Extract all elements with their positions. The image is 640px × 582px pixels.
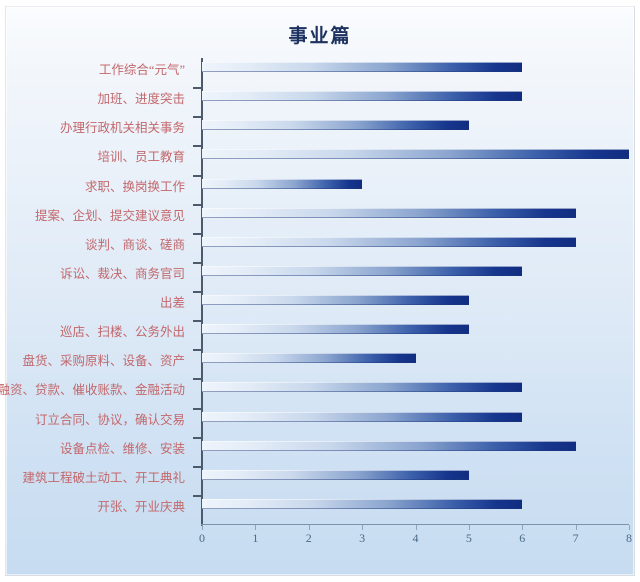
bar	[202, 412, 522, 422]
plot-area: 012345678 工作综合“元气”加班、进度突击办理行政机关相关事务培训、员工…	[196, 53, 633, 533]
bar-row	[202, 116, 629, 135]
bar	[202, 470, 469, 480]
y-axis-tick	[193, 466, 201, 468]
bar-row	[202, 87, 629, 106]
x-axis-tick	[469, 525, 470, 530]
bar-row	[202, 349, 629, 368]
bar-row	[202, 175, 629, 194]
y-axis-tick	[193, 262, 201, 264]
bar	[202, 382, 522, 392]
x-axis-tick	[362, 525, 363, 530]
category-label: 订立合同、协议，确认交易	[0, 409, 185, 428]
category-label: 融资、贷款、催收账款、金融活动	[0, 379, 185, 398]
x-axis-tick	[255, 525, 256, 530]
x-axis-tick-label: 2	[294, 531, 324, 546]
bar	[202, 120, 469, 130]
y-axis-tick	[193, 408, 201, 410]
category-label: 开张、开业庆典	[0, 496, 185, 515]
bar	[202, 179, 362, 189]
category-label: 求职、换岗换工作	[0, 176, 185, 195]
bar	[202, 441, 576, 451]
y-axis-tick	[193, 378, 201, 380]
category-label: 巡店、扫楼、公务外出	[0, 321, 185, 340]
x-axis-tick-label: 4	[401, 531, 431, 546]
category-label: 设备点检、维修、安装	[0, 438, 185, 457]
x-axis-tick	[576, 525, 577, 530]
bar	[202, 266, 522, 276]
y-axis-tick	[193, 437, 201, 439]
x-axis-tick	[309, 525, 310, 530]
category-label: 加班、进度突击	[0, 88, 185, 107]
bar	[202, 149, 629, 159]
bar-row	[202, 378, 629, 397]
category-label: 工作综合“元气”	[0, 59, 185, 78]
bar	[202, 353, 416, 363]
bar-row	[202, 495, 629, 514]
y-axis-tick	[193, 495, 201, 497]
bar	[202, 91, 522, 101]
y-axis-tick	[193, 87, 201, 89]
x-axis-tick-label: 0	[187, 531, 217, 546]
bar-row	[202, 262, 629, 281]
category-label: 办理行政机关相关事务	[0, 117, 185, 136]
x-axis-tick-label: 3	[347, 531, 377, 546]
x-axis-tick-label: 8	[614, 531, 640, 546]
bar-row	[202, 466, 629, 485]
x-axis-tick	[522, 525, 523, 530]
category-label: 盘货、采购原料、设备、资产	[0, 350, 185, 369]
y-axis-tick	[193, 116, 201, 118]
x-axis-tick-label: 5	[454, 531, 484, 546]
bar-row	[202, 408, 629, 427]
bar-row	[202, 145, 629, 164]
category-label: 诉讼、裁决、商务官司	[0, 263, 185, 282]
category-label: 培训、员工教育	[0, 146, 185, 165]
y-axis-tick	[193, 145, 201, 147]
x-axis-tick	[629, 525, 630, 530]
bar	[202, 62, 522, 72]
bar	[202, 208, 576, 218]
category-label: 谈判、商谈、磋商	[0, 234, 185, 253]
x-axis-tick-label: 1	[240, 531, 270, 546]
bar-row	[202, 437, 629, 456]
bar	[202, 237, 576, 247]
x-axis-tick-label: 7	[561, 531, 591, 546]
y-axis-tick	[193, 349, 201, 351]
y-axis-tick	[193, 175, 201, 177]
y-axis-tick	[193, 320, 201, 322]
bar	[202, 324, 469, 334]
x-axis-tick	[416, 525, 417, 530]
y-axis-tick	[193, 204, 201, 206]
bar-row	[202, 204, 629, 223]
bar-row	[202, 291, 629, 310]
bar	[202, 295, 469, 305]
y-axis-tick	[193, 291, 201, 293]
category-label: 建筑工程破土动工、开工典礼	[0, 467, 185, 486]
bar-row	[202, 233, 629, 252]
category-label: 提案、企划、提交建议意见	[0, 205, 185, 224]
y-axis-tick	[193, 233, 201, 235]
chart-frame: 事业篇 012345678 工作综合“元气”加班、进度突击办理行政机关相关事务培…	[5, 6, 635, 576]
x-axis-tick	[202, 525, 203, 530]
bar-row	[202, 58, 629, 77]
bar-row	[202, 320, 629, 339]
chart-title: 事业篇	[6, 21, 634, 48]
category-label: 出差	[0, 292, 185, 311]
x-axis-tick-label: 6	[507, 531, 537, 546]
bar	[202, 499, 522, 509]
